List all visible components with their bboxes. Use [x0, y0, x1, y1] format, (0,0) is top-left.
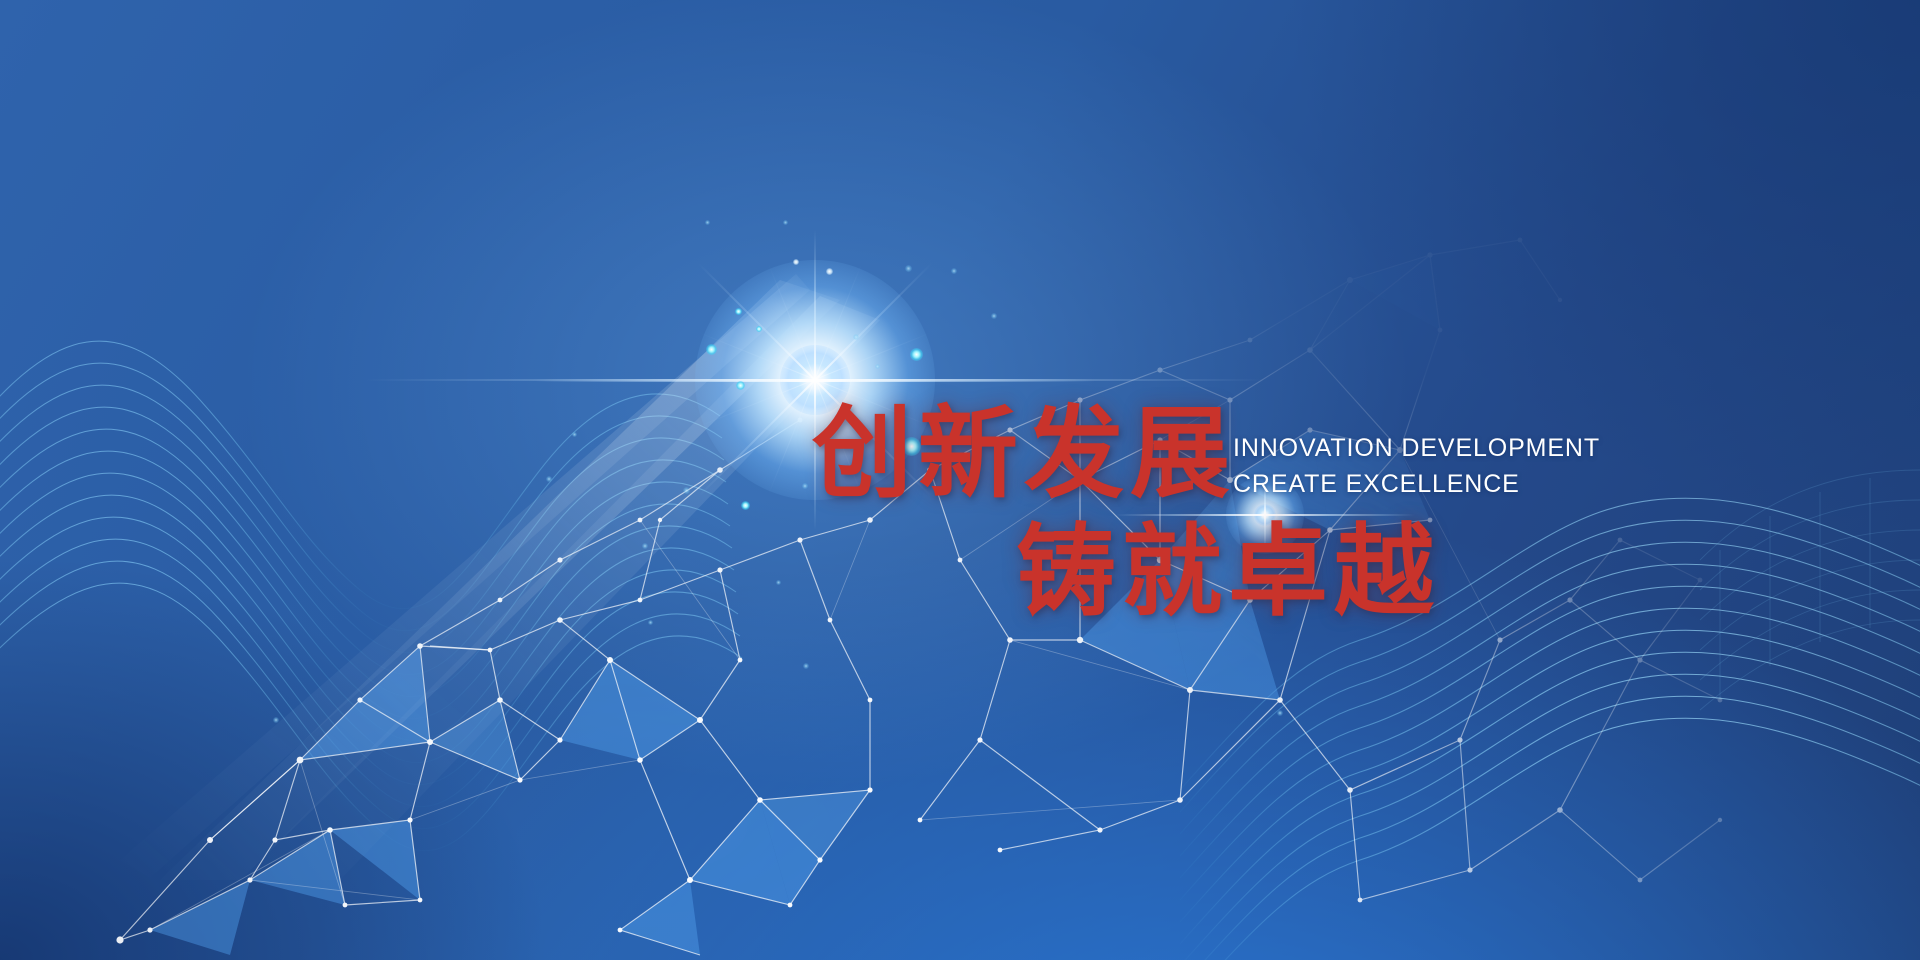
- subheadline-line-1: INNOVATION DEVELOPMENT: [1233, 434, 1600, 463]
- headline-line-2: 铸就卓越: [1016, 522, 1440, 622]
- subheadline-line-2: CREATE EXCELLENCE: [1233, 470, 1520, 499]
- hero-banner: 创新发展 铸就卓越 INNOVATION DEVELOPMENT CREATE …: [0, 0, 1920, 960]
- headline-line-1: 创新发展: [812, 404, 1236, 504]
